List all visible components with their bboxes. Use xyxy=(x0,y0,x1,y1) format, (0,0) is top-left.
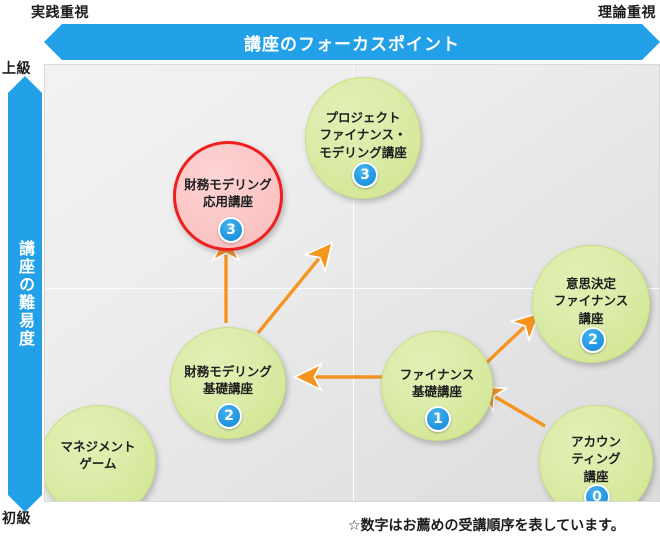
bubble-label: マネジメント ゲーム xyxy=(56,438,139,473)
badge-order-number: 2 xyxy=(580,327,606,353)
badge-order-number: 1 xyxy=(425,406,451,432)
bubble-project-finance-modeling[interactable]: プロジェクト ファイナンス・ モデリング講座 3 xyxy=(305,77,421,199)
bubble-management-game[interactable]: マネジメント ゲーム xyxy=(44,405,156,502)
bubble-label: アカウン ティング 講座 xyxy=(567,433,625,485)
footnote-order-note: ☆数字はお薦めの受講順序を表しています。 xyxy=(348,515,625,535)
difficulty-axis-banner: 講座の難易度 xyxy=(8,76,42,512)
badge-order-number: 3 xyxy=(352,162,378,188)
badge-order-number: 3 xyxy=(218,217,244,243)
bubble-label: 意思決定 ファイナンス 講座 xyxy=(550,275,633,327)
bubble-decision-finance[interactable]: 意思決定 ファイナンス 講座 2 xyxy=(532,245,650,363)
course-positioning-diagram: 実践重視 理論重視 講座のフォーカスポイント 上級 初級 講座の難易度 xyxy=(0,0,660,550)
badge-order-number: 0 xyxy=(584,484,610,502)
bubble-financial-modeling-advanced[interactable]: 財務モデリング 応用講座 3 xyxy=(173,141,283,251)
bubble-label: プロジェクト ファイナンス・ モデリング講座 xyxy=(315,109,411,161)
bubble-label: 財務モデリング 応用講座 xyxy=(180,176,276,211)
bubble-label: 財務モデリング 基礎講座 xyxy=(180,363,276,398)
axis-label-advanced: 上級 xyxy=(2,58,31,78)
bubble-accounting[interactable]: アカウン ティング 講座 0 xyxy=(539,405,653,502)
focus-point-axis-label: 講座のフォーカスポイント xyxy=(44,24,660,60)
quadrant-plot-area: プロジェクト ファイナンス・ モデリング講座 3 財務モデリング 応用講座 3 … xyxy=(44,64,660,502)
focus-point-axis-banner: 講座のフォーカスポイント xyxy=(44,24,660,60)
bubble-finance-basic[interactable]: ファイナンス 基礎講座 1 xyxy=(381,331,493,441)
axis-label-theory-focus: 理論重視 xyxy=(598,2,656,22)
badge-order-number: 2 xyxy=(216,403,242,429)
arrow-modeling-basic-to-project-finance xyxy=(258,245,330,333)
bubble-financial-modeling-basic[interactable]: 財務モデリング 基礎講座 2 xyxy=(170,327,286,439)
difficulty-axis-label: 講座の難易度 xyxy=(8,76,42,512)
bubble-label: ファイナンス 基礎講座 xyxy=(396,366,479,401)
arrow-finance-basic-to-decision-finance xyxy=(482,315,537,367)
axis-label-practice-focus: 実践重視 xyxy=(31,2,89,22)
